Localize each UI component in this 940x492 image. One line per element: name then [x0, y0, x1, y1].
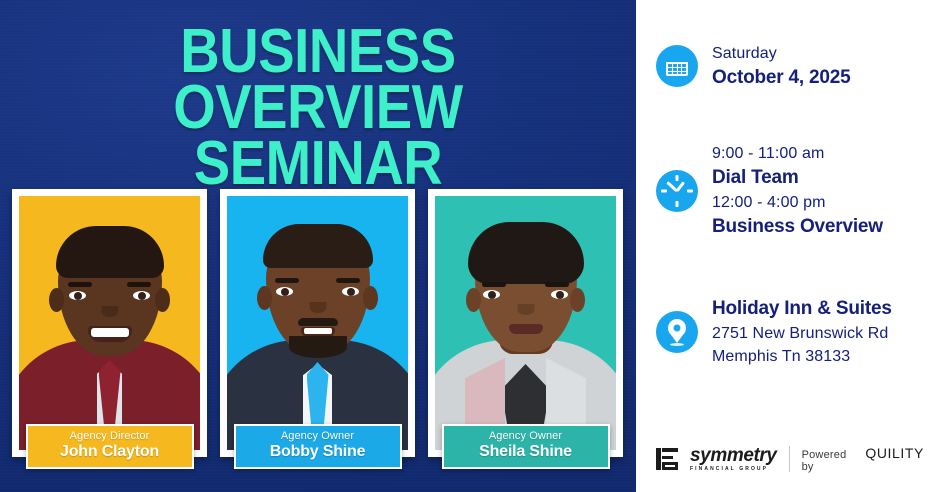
- powered-by-label: Powered by: [802, 449, 862, 473]
- time-slot-2-label: Business Overview: [712, 214, 883, 240]
- calendar-icon: [656, 45, 698, 87]
- speaker-role: Agency Owner: [242, 430, 394, 443]
- speaker-name: Bobby Shine: [242, 443, 394, 461]
- time-slot-1-label: Dial Team: [712, 165, 883, 191]
- speaker-nameplate: Agency Owner Sheila Shine: [442, 424, 610, 469]
- event-venue-row: Holiday Inn & Suites 2751 New Brunswick …: [656, 296, 892, 368]
- footer-divider: [789, 446, 790, 472]
- details-panel: Saturday October 4, 2025 9:00 - 11:00 am…: [636, 0, 940, 492]
- portrait-illustration: [227, 196, 408, 450]
- speaker-name: Sheila Shine: [450, 443, 602, 461]
- time-slot-1-hours: 9:00 - 11:00 am: [712, 142, 883, 165]
- speaker-card[interactable]: Agency Owner Bobby Shine: [220, 189, 415, 457]
- event-time-row: 9:00 - 11:00 am Dial Team 12:00 - 4:00 p…: [656, 142, 883, 240]
- left-panel: BUSINESS OVERVIEW SEMINAR: [0, 0, 636, 492]
- event-weekday: Saturday: [712, 42, 851, 65]
- speaker-role: Agency Owner: [450, 430, 602, 443]
- quility-brand-name: QUILITY: [865, 445, 924, 461]
- symmetry-logo-icon: [656, 447, 680, 471]
- event-full-date: October 4, 2025: [712, 65, 851, 91]
- location-pin-icon: [656, 311, 698, 353]
- speaker-photo: [435, 196, 616, 450]
- portrait-illustration: [435, 196, 616, 450]
- page-title: BUSINESS OVERVIEW SEMINAR: [38, 24, 598, 191]
- portrait-illustration: [19, 196, 200, 450]
- speaker-nameplate: Agency Owner Bobby Shine: [234, 424, 402, 469]
- event-date-row: Saturday October 4, 2025: [656, 42, 851, 91]
- symmetry-brand-sub: FINANCIAL GROUP: [690, 467, 777, 472]
- venue-name: Holiday Inn & Suites: [712, 296, 892, 322]
- symmetry-brand-name: symmetry: [690, 446, 777, 465]
- clock-icon: [656, 170, 698, 212]
- headline-line-1: BUSINESS OVERVIEW: [173, 17, 463, 142]
- headline-line-2: SEMINAR: [38, 136, 598, 192]
- speaker-photo: [227, 196, 408, 450]
- footer-branding: symmetry FINANCIAL GROUP Powered by QUIL…: [656, 442, 924, 476]
- speaker-nameplate: Agency Director John Clayton: [26, 424, 194, 469]
- speaker-name: John Clayton: [34, 443, 186, 461]
- speaker-card[interactable]: Agency Director John Clayton: [12, 189, 207, 457]
- speaker-card[interactable]: Agency Owner Sheila Shine: [428, 189, 623, 457]
- venue-city: Memphis Tn 38133: [712, 345, 892, 368]
- speaker-card-list: Agency Director John Clayton: [12, 189, 624, 457]
- venue-street: 2751 New Brunswick Rd: [712, 322, 892, 345]
- speaker-photo: [19, 196, 200, 450]
- flyer-canvas: BUSINESS OVERVIEW SEMINAR: [0, 0, 940, 492]
- time-slot-2-hours: 12:00 - 4:00 pm: [712, 191, 883, 214]
- speaker-role: Agency Director: [34, 430, 186, 443]
